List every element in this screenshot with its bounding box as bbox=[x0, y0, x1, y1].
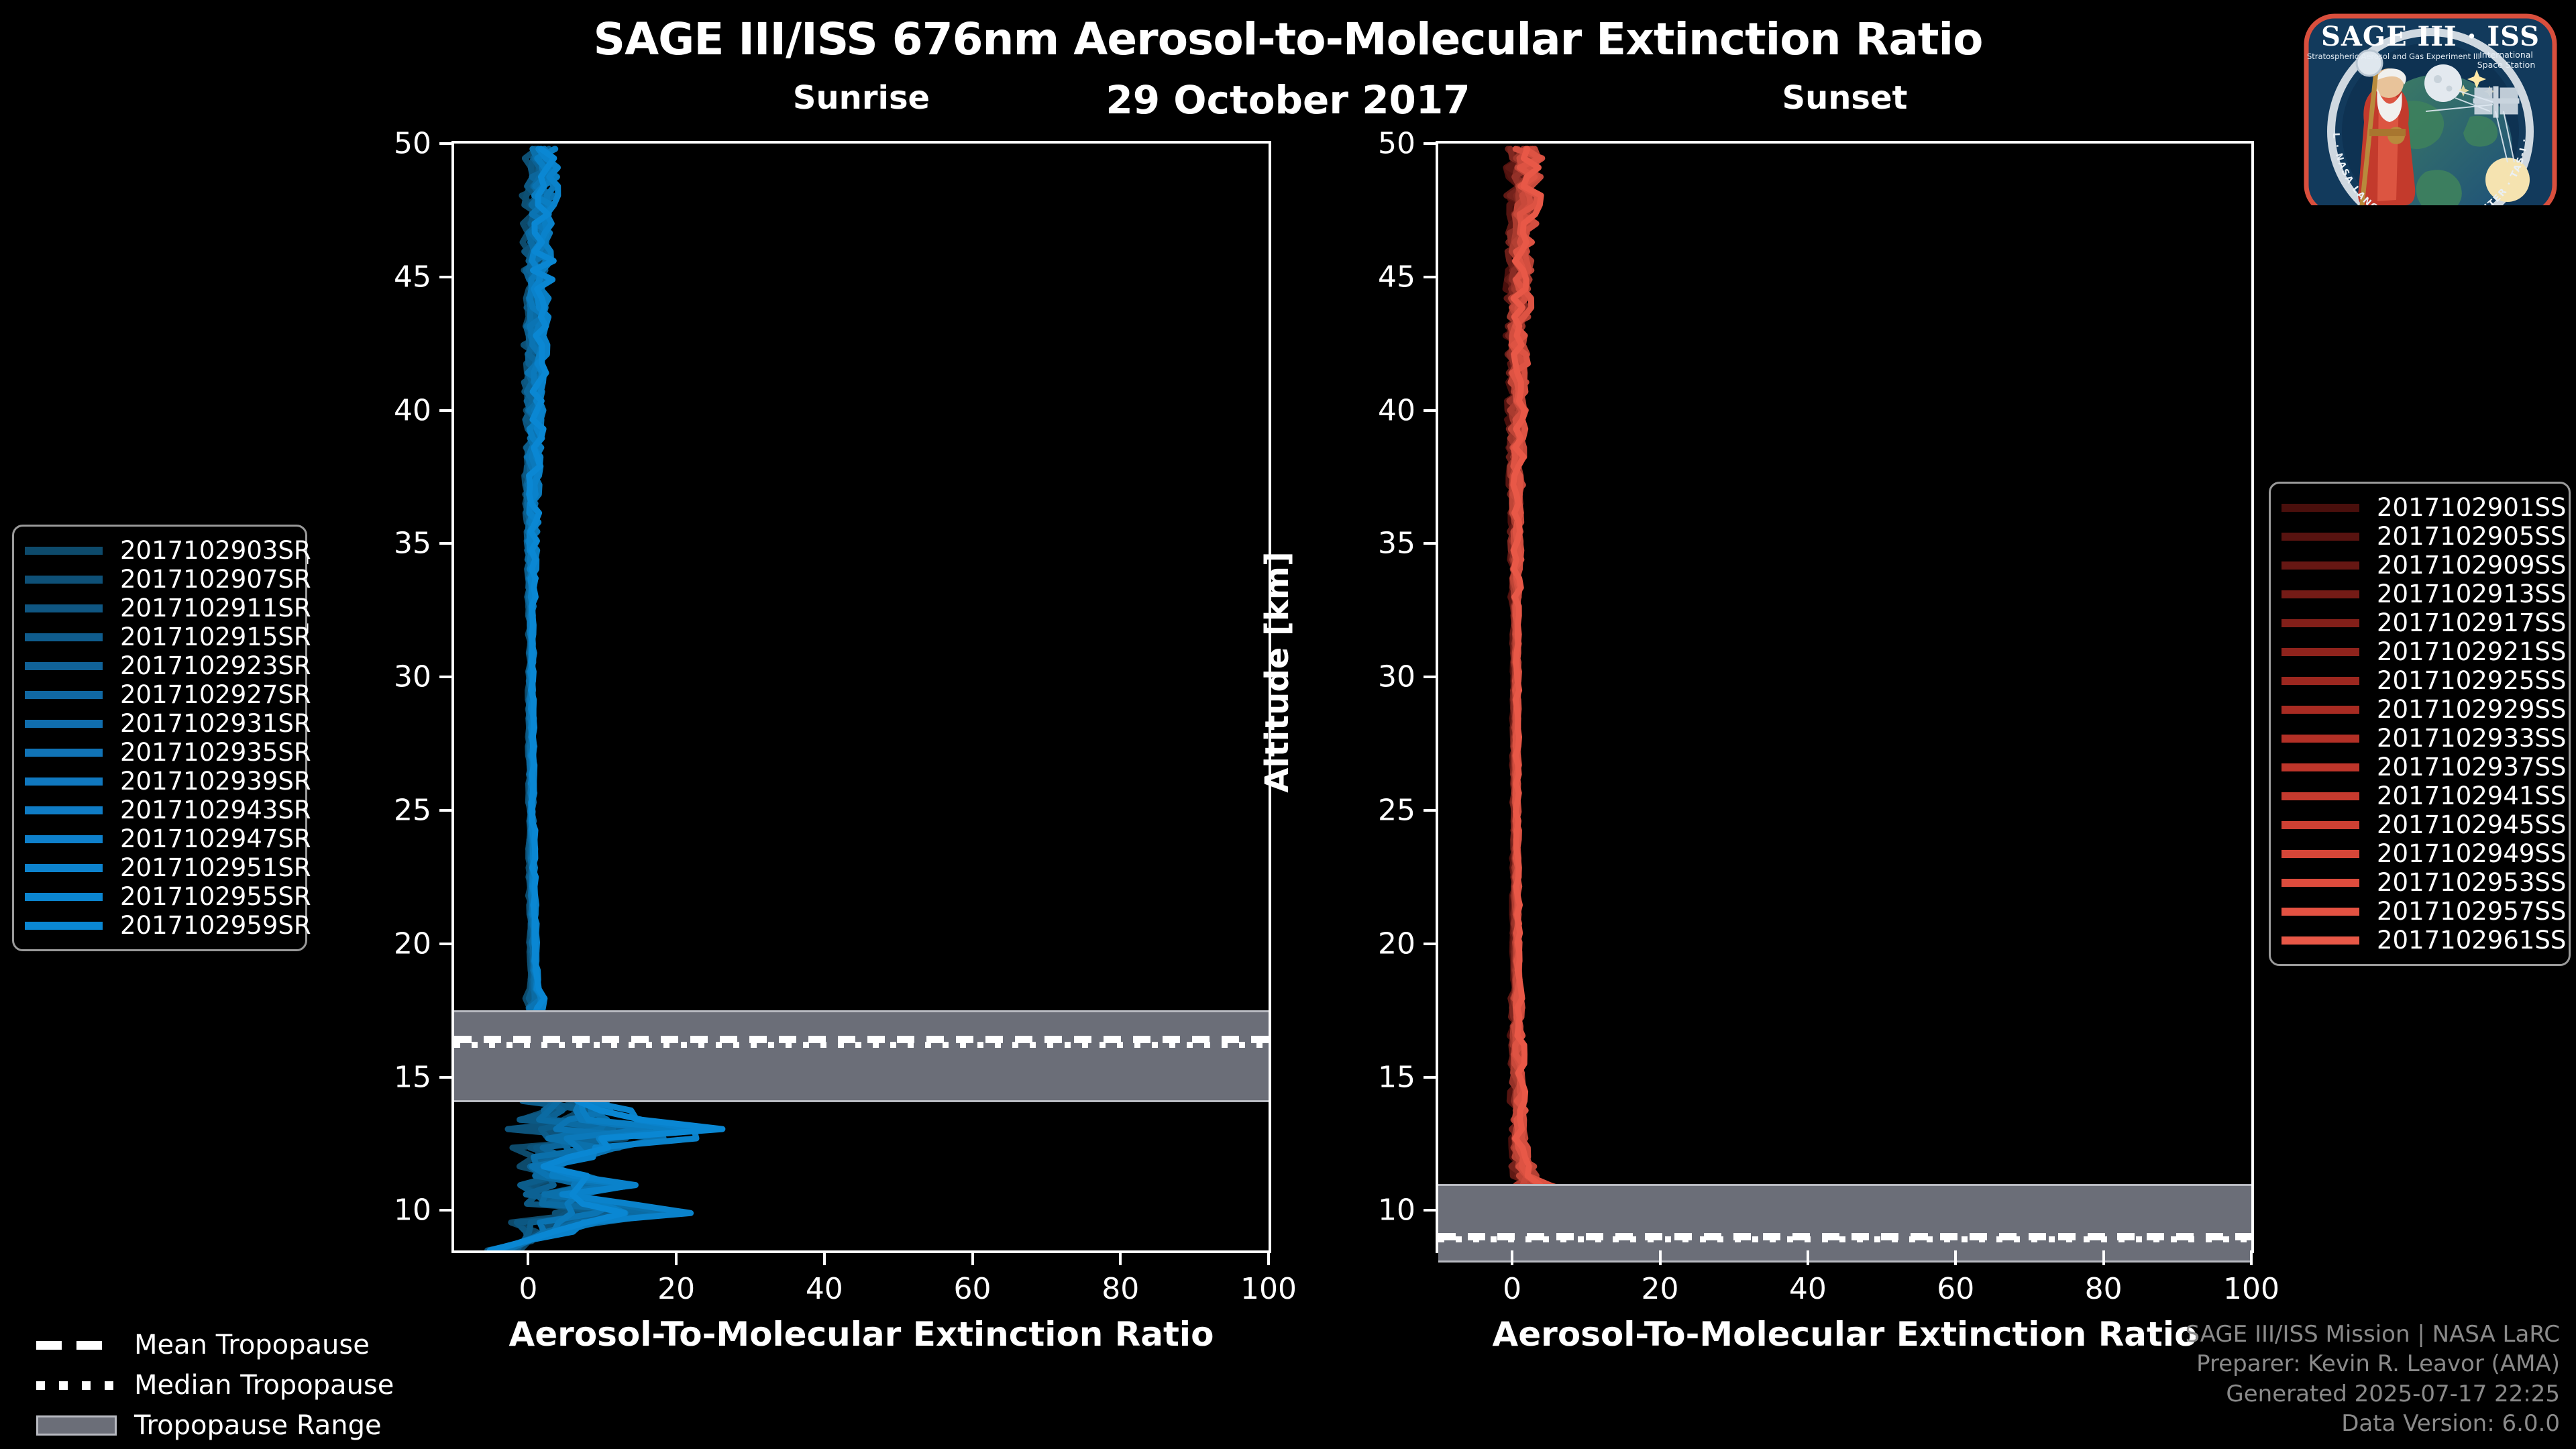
x-tick-label: 80 bbox=[1102, 1272, 1139, 1306]
legend-color-swatch bbox=[2282, 850, 2359, 858]
credits-line: Data Version: 6.0.0 bbox=[2185, 1409, 2560, 1438]
y-tick-label: 15 bbox=[1378, 1060, 1415, 1094]
legend-item-label: 2017102935SR bbox=[120, 738, 311, 767]
x-tick-mark bbox=[1511, 1250, 1513, 1265]
mission-patch-title: SAGE III · ISS bbox=[2321, 21, 2540, 52]
x-tick-mark bbox=[527, 1250, 529, 1265]
y-tick-mark bbox=[439, 1209, 454, 1212]
legend-sunrise-item[interactable]: 2017102907SR bbox=[25, 565, 293, 594]
legend-item-label: 2017102925SS bbox=[2377, 666, 2566, 695]
legend-color-swatch bbox=[2282, 648, 2359, 656]
profile-lines-sunset bbox=[1438, 144, 2251, 1250]
legend-color-swatch bbox=[2282, 504, 2359, 512]
y-tick-label: 25 bbox=[394, 793, 431, 827]
legend-color-swatch bbox=[2282, 908, 2359, 916]
legend-color-swatch bbox=[2282, 590, 2359, 598]
x-tick-label: 40 bbox=[806, 1272, 843, 1306]
legend-sunset-item[interactable]: 2017102921SS bbox=[2282, 637, 2557, 666]
y-tick-mark bbox=[1424, 809, 1438, 812]
credits-line: Generated 2025-07-17 22:25 bbox=[2185, 1379, 2560, 1409]
legend-item-label: 2017102947SR bbox=[120, 824, 311, 853]
y-tick-mark bbox=[1424, 542, 1438, 545]
x-tick-label: 0 bbox=[1503, 1272, 1521, 1306]
y-tick-label: 30 bbox=[394, 660, 431, 694]
legend-color-swatch bbox=[25, 691, 103, 699]
x-tick-mark bbox=[1119, 1250, 1122, 1265]
tropopause-legend-item[interactable]: Tropopause Range bbox=[15, 1405, 394, 1446]
legend-color-swatch bbox=[25, 922, 103, 930]
legend-sunrise-item[interactable]: 2017102931SR bbox=[25, 709, 293, 738]
legend-sunset[interactable]: 2017102901SS2017102905SS2017102909SS2017… bbox=[2269, 482, 2571, 966]
x-tick-label: 60 bbox=[1937, 1272, 1974, 1306]
x-tick-mark bbox=[823, 1250, 826, 1265]
y-tick-label: 10 bbox=[1378, 1193, 1415, 1228]
y-tick-mark bbox=[439, 409, 454, 412]
y-tick-mark bbox=[439, 276, 454, 278]
median-tropopause-swatch bbox=[36, 1375, 117, 1395]
legend-item-label: 2017102939SR bbox=[120, 767, 311, 796]
mission-patch-subtitle-right-2: Space Station bbox=[2477, 60, 2536, 70]
median-tropopause-line-sunrise bbox=[454, 1042, 1269, 1048]
legend-color-swatch bbox=[25, 806, 103, 814]
tropopause-range-band-sunrise bbox=[454, 1010, 1269, 1102]
page-title: SAGE III/ISS 676nm Aerosol-to-Molecular … bbox=[0, 13, 2576, 65]
tropopause-legend-label: Tropopause Range bbox=[134, 1410, 382, 1441]
x-tick-mark bbox=[2250, 1250, 2253, 1265]
legend-color-swatch bbox=[25, 662, 103, 670]
legend-item-label: 2017102955SR bbox=[120, 882, 311, 911]
legend-item-label: 2017102927SR bbox=[120, 680, 311, 709]
legend-sunrise-item[interactable]: 2017102943SR bbox=[25, 796, 293, 824]
legend-item-label: 2017102909SS bbox=[2377, 551, 2566, 580]
legend-color-swatch bbox=[25, 864, 103, 872]
x-tick-mark bbox=[1807, 1250, 1809, 1265]
legend-sunset-item[interactable]: 2017102949SS bbox=[2282, 839, 2557, 868]
legend-sunset-item[interactable]: 2017102941SS bbox=[2282, 782, 2557, 810]
y-tick-label: 35 bbox=[1378, 527, 1415, 561]
y-tick-mark bbox=[1424, 142, 1438, 145]
x-tick-label: 80 bbox=[2085, 1272, 2123, 1306]
legend-sunrise-item[interactable]: 2017102959SR bbox=[25, 911, 293, 940]
panel-title-sunrise: Sunrise bbox=[451, 79, 1271, 117]
legend-sunset-item[interactable]: 2017102909SS bbox=[2282, 551, 2557, 580]
legend-item-label: 2017102953SS bbox=[2377, 868, 2566, 897]
legend-item-label: 2017102901SS bbox=[2377, 493, 2566, 522]
profile-line bbox=[1493, 149, 1568, 1250]
y-tick-mark bbox=[439, 1076, 454, 1079]
y-tick-mark bbox=[1424, 676, 1438, 678]
legend-item-label: 2017102929SS bbox=[2377, 695, 2566, 724]
y-tick-label: 45 bbox=[394, 260, 431, 294]
x-tick-mark bbox=[2102, 1250, 2105, 1265]
legend-item-label: 2017102945SS bbox=[2377, 810, 2566, 839]
legend-sunrise-item[interactable]: 2017102923SR bbox=[25, 651, 293, 680]
legend-item-label: 2017102961SS bbox=[2377, 926, 2566, 955]
legend-color-swatch bbox=[25, 777, 103, 786]
x-tick-mark bbox=[971, 1250, 974, 1265]
legend-item-label: 2017102941SS bbox=[2377, 782, 2566, 810]
x-axis-label-sunrise: Aerosol-To-Molecular Extinction Ratio bbox=[454, 1315, 1269, 1354]
x-tick-label: 20 bbox=[657, 1272, 695, 1306]
legend-sunset-item[interactable]: 2017102945SS bbox=[2282, 810, 2557, 839]
legend-sunrise[interactable]: 2017102903SR2017102907SR2017102911SR2017… bbox=[12, 525, 307, 951]
legend-sunset-item[interactable]: 2017102913SS bbox=[2282, 580, 2557, 608]
y-tick-label: 50 bbox=[394, 127, 431, 161]
x-tick-label: 40 bbox=[1789, 1272, 1827, 1306]
y-tick-mark bbox=[439, 809, 454, 812]
y-tick-mark bbox=[439, 542, 454, 545]
legend-sunrise-item[interactable]: 2017102951SR bbox=[25, 853, 293, 882]
y-tick-label: 50 bbox=[1378, 127, 1415, 161]
legend-item-label: 2017102913SS bbox=[2377, 580, 2566, 608]
tropopause-range-band-sunset bbox=[1438, 1184, 2251, 1263]
credits-line: Preparer: Kevin R. Leavor (AMA) bbox=[2185, 1349, 2560, 1379]
legend-sunrise-item[interactable]: 2017102927SR bbox=[25, 680, 293, 709]
legend-sunrise-item[interactable]: 2017102955SR bbox=[25, 882, 293, 911]
legend-item-label: 2017102915SR bbox=[120, 623, 311, 651]
legend-item-label: 2017102937SS bbox=[2377, 753, 2566, 782]
x-tick-label: 100 bbox=[1240, 1272, 1297, 1306]
y-tick-mark bbox=[1424, 409, 1438, 412]
plot-sunset[interactable]: Altitude [km] Aerosol-To-Molecular Extin… bbox=[1436, 141, 2254, 1253]
legend-sunset-item[interactable]: 2017102961SS bbox=[2282, 926, 2557, 955]
legend-sunrise-item[interactable]: 2017102935SR bbox=[25, 738, 293, 767]
tropopause-range-swatch bbox=[36, 1415, 117, 1436]
tropopause-legend[interactable]: Mean TropopauseMedian TropopauseTropopau… bbox=[15, 1325, 394, 1446]
legend-color-swatch bbox=[25, 749, 103, 757]
y-tick-label: 40 bbox=[394, 393, 431, 427]
legend-sunset-item[interactable]: 2017102925SS bbox=[2282, 666, 2557, 695]
y-tick-label: 40 bbox=[1378, 393, 1415, 427]
legend-color-swatch bbox=[2282, 792, 2359, 800]
legend-item-label: 2017102949SS bbox=[2377, 839, 2566, 868]
legend-item-label: 2017102911SR bbox=[120, 594, 311, 623]
mission-patch-subtitle-right-1: International bbox=[2479, 50, 2533, 60]
legend-color-swatch bbox=[25, 720, 103, 728]
legend-item-label: 2017102951SR bbox=[120, 853, 311, 882]
y-axis-label-sunset: Altitude [km] bbox=[1258, 484, 1296, 860]
legend-color-swatch bbox=[2282, 533, 2359, 541]
legend-item-label: 2017102917SS bbox=[2377, 608, 2566, 637]
y-tick-label: 20 bbox=[394, 926, 431, 961]
x-tick-label: 20 bbox=[1642, 1272, 1679, 1306]
x-tick-label: 0 bbox=[519, 1272, 537, 1306]
legend-color-swatch bbox=[2282, 879, 2359, 887]
legend-color-swatch bbox=[2282, 821, 2359, 829]
y-tick-mark bbox=[439, 943, 454, 945]
y-tick-label: 15 bbox=[394, 1060, 431, 1094]
legend-sunrise-item[interactable]: 2017102915SR bbox=[25, 623, 293, 651]
y-tick-label: 30 bbox=[1378, 660, 1415, 694]
legend-item-label: 2017102959SR bbox=[120, 911, 311, 940]
y-tick-label: 45 bbox=[1378, 260, 1415, 294]
legend-sunset-item[interactable]: 2017102917SS bbox=[2282, 608, 2557, 637]
x-tick-mark bbox=[675, 1250, 678, 1265]
y-tick-mark bbox=[1424, 943, 1438, 945]
tropopause-legend-label: Median Tropopause bbox=[134, 1370, 394, 1401]
credits-block: SAGE III/ISS Mission | NASA LaRCPreparer… bbox=[2185, 1320, 2560, 1438]
plot-sunrise[interactable]: Altitude [km] Aerosol-To-Molecular Extin… bbox=[451, 141, 1271, 1253]
legend-color-swatch bbox=[25, 633, 103, 641]
y-tick-mark bbox=[439, 142, 454, 145]
credits-line: SAGE III/ISS Mission | NASA LaRC bbox=[2185, 1320, 2560, 1349]
panel-title-sunset: Sunset bbox=[1436, 79, 2254, 117]
legend-color-swatch bbox=[25, 576, 103, 584]
legend-item-label: 2017102931SR bbox=[120, 709, 311, 738]
legend-color-swatch bbox=[25, 835, 103, 843]
mission-patch-subtitle-left: Stratospheric Aerosol and Gas Experiment… bbox=[2307, 52, 2480, 61]
sage-iii-iss-mission-patch-logo: BALL · NASA LANGLEY RESEARCH CENTER · TA… bbox=[2294, 4, 2567, 205]
legend-item-label: 2017102957SS bbox=[2377, 897, 2566, 926]
legend-color-swatch bbox=[25, 893, 103, 901]
x-tick-mark bbox=[1954, 1250, 1957, 1265]
legend-sunrise-item[interactable]: 2017102911SR bbox=[25, 594, 293, 623]
legend-sunset-item[interactable]: 2017102937SS bbox=[2282, 753, 2557, 782]
legend-sunset-item[interactable]: 2017102901SS bbox=[2282, 493, 2557, 522]
legend-color-swatch bbox=[25, 547, 103, 555]
legend-sunset-item[interactable]: 2017102953SS bbox=[2282, 868, 2557, 897]
x-axis-label-sunset: Aerosol-To-Molecular Extinction Ratio bbox=[1438, 1315, 2251, 1354]
y-tick-mark bbox=[1424, 276, 1438, 278]
legend-item-label: 2017102923SR bbox=[120, 651, 311, 680]
legend-sunset-item[interactable]: 2017102957SS bbox=[2282, 897, 2557, 926]
x-tick-label: 60 bbox=[954, 1272, 991, 1306]
legend-sunrise-item[interactable]: 2017102947SR bbox=[25, 824, 293, 853]
y-tick-label: 25 bbox=[1378, 793, 1415, 827]
legend-sunset-item[interactable]: 2017102933SS bbox=[2282, 724, 2557, 753]
x-tick-label: 100 bbox=[2223, 1272, 2279, 1306]
legend-color-swatch bbox=[2282, 677, 2359, 685]
legend-color-swatch bbox=[2282, 763, 2359, 771]
mean-tropopause-swatch bbox=[36, 1335, 117, 1355]
legend-item-label: 2017102907SR bbox=[120, 565, 311, 594]
y-tick-mark bbox=[439, 676, 454, 678]
y-tick-label: 10 bbox=[394, 1193, 431, 1228]
plot-area-sunset bbox=[1438, 144, 2251, 1250]
legend-color-swatch bbox=[2282, 706, 2359, 714]
median-tropopause-line-sunset bbox=[1438, 1236, 2251, 1242]
legend-color-swatch bbox=[25, 604, 103, 612]
legend-color-swatch bbox=[2282, 619, 2359, 627]
legend-color-swatch bbox=[2282, 561, 2359, 570]
legend-item-label: 2017102905SS bbox=[2377, 522, 2566, 551]
y-tick-label: 20 bbox=[1378, 926, 1415, 961]
legend-item-label: 2017102903SR bbox=[120, 536, 311, 565]
tropopause-legend-item[interactable]: Mean Tropopause bbox=[15, 1325, 394, 1365]
legend-color-swatch bbox=[2282, 936, 2359, 945]
legend-color-swatch bbox=[2282, 735, 2359, 743]
legend-sunrise-item[interactable]: 2017102903SR bbox=[25, 536, 293, 565]
legend-item-label: 2017102933SS bbox=[2377, 724, 2566, 753]
y-tick-label: 35 bbox=[394, 527, 431, 561]
y-tick-mark bbox=[1424, 1076, 1438, 1079]
legend-sunset-item[interactable]: 2017102929SS bbox=[2282, 695, 2557, 724]
tropopause-legend-item[interactable]: Median Tropopause bbox=[15, 1365, 394, 1405]
legend-item-label: 2017102943SR bbox=[120, 796, 311, 824]
x-tick-mark bbox=[1267, 1250, 1270, 1265]
legend-sunrise-item[interactable]: 2017102939SR bbox=[25, 767, 293, 796]
legend-sunset-item[interactable]: 2017102905SS bbox=[2282, 522, 2557, 551]
x-tick-mark bbox=[1659, 1250, 1662, 1265]
y-tick-mark bbox=[1424, 1209, 1438, 1212]
legend-item-label: 2017102921SS bbox=[2377, 637, 2566, 666]
tropopause-legend-label: Mean Tropopause bbox=[134, 1330, 370, 1360]
